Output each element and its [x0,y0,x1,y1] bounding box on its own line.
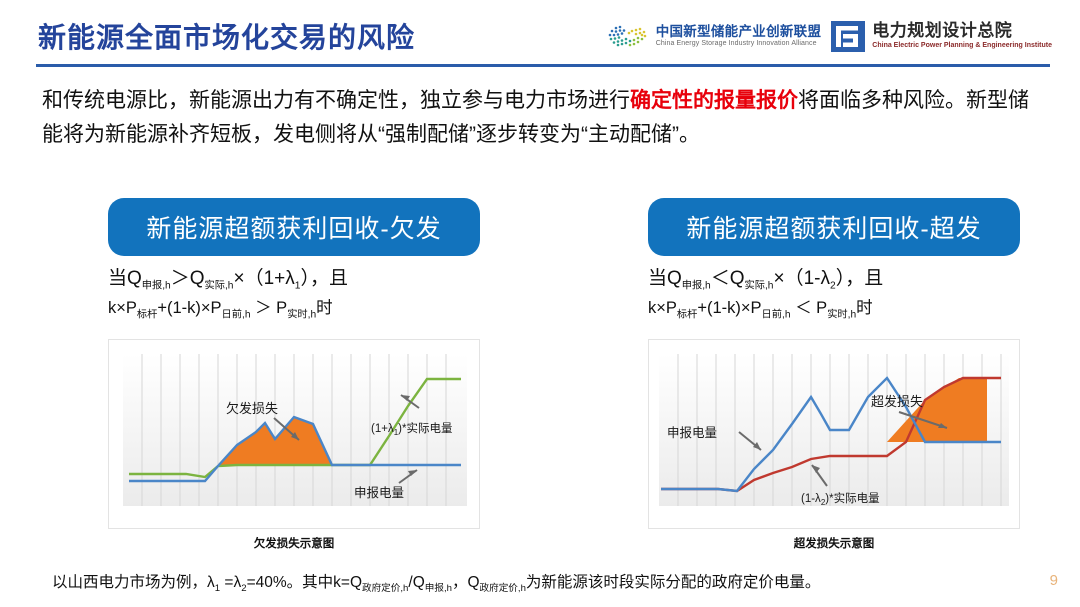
logo-bar: 中国新型储能产业创新联盟 China Energy Storage Indust… [607,14,1052,58]
pill-shortfall-title[interactable]: 新能源超额获利回收-欠发 [108,198,480,256]
g1-tail: ），且 [836,268,884,289]
lead-paragraph: 和传统电源比，新能源出力有不确定性，独立参与电力市场进行确定性的报量报价将面临多… [42,84,1042,152]
page-title: 新能源全面市场化交易的风险 [38,16,415,56]
footnote-pre: 以山西电力市场为例，λ [52,574,215,591]
pill-excess-title[interactable]: 新能源超额获利回收-超发 [648,198,1020,256]
g2-mid: +(1-k)×P [697,299,761,317]
f1-pre: 当Q [108,268,142,289]
pill-excess-label: 新能源超额获利回收-超发 [686,209,981,245]
footnote-mid1: =λ [220,574,241,591]
logo-energy-storage-alliance: 中国新型储能产业创新联盟 China Energy Storage Indust… [607,21,822,51]
g2-sub3: 实时,h [827,310,856,321]
g1-pre: 当Q [648,268,682,289]
chart-excess-svg: 申报电量 超发损失 (1-λ2)*实际电量 [649,340,1021,530]
f1-sub1: 申报,h [142,280,171,291]
title-divider [36,64,1050,67]
logo-epe-institute: 电力规划设计总院 China Electric Power Planning &… [831,21,1052,52]
f2-pre: k×P [108,299,137,317]
formula-excess-line2: k×P标杆+(1-k)×P日前,h ＜ P实时,h时 [648,297,1020,326]
lead-highlight: 确定性的报量报价 [630,89,798,112]
footnote-sub3: 政府定价,h [362,583,408,594]
g2-sub1: 标杆 [677,310,697,321]
formula-shortfall-line1: 当Q申报,h＞Q实际,h×（1+λ1），且 [108,268,480,297]
logo-alliance-cn: 中国新型储能产业创新联盟 [656,24,822,40]
annotation-excess-loss: 超发损失 [871,394,923,409]
column-excess: 新能源超额获利回收-超发 当Q申报,h＜Q实际,h×（1-λ2），且 k×P标杆… [648,198,1020,551]
f2-post: ＞ P [251,299,288,317]
blue-square-epe-icon [831,21,865,52]
footnote-mid4: ，Q [452,574,480,591]
chart-shortfall: 欠发损失 (1+λ1)*实际电量 申报电量 [108,339,480,529]
formula-shortfall: 当Q申报,h＞Q实际,h×（1+λ1），且 k×P标杆+(1-k)×P日前,h … [108,268,480,327]
f2-sub3: 实时,h [287,310,316,321]
g2-tail: 时 [856,299,873,317]
f1-tail: ），且 [300,268,348,289]
footnote-sub5: 政府定价,h [480,583,526,594]
f1-sub2: 实际,h [205,280,234,291]
g1-post: ×（1-λ [774,268,831,289]
g1-sub2: 实际,h [745,280,774,291]
caption-shortfall: 欠发损失示意图 [108,535,480,551]
annotation-blue-line-2: 申报电量 [667,425,717,440]
annotation-shortfall-loss: 欠发损失 [226,401,278,416]
lead-text-part1: 和传统电源比，新能源出力有不确定性，独立参与电力市场进行 [42,89,630,112]
chart-shortfall-svg: 欠发损失 (1+λ1)*实际电量 申报电量 [109,340,481,530]
g2-pre: k×P [648,299,677,317]
footnote-mid3: /Q [408,574,424,591]
g1-sub1: 申报,h [682,280,711,291]
footnote: 以山西电力市场为例，λ1 =λ2=40%。其中k=Q政府定价,h/Q申报,h，Q… [52,570,1042,594]
g2-sub2: 日前,h [762,310,791,321]
g1-mid: ＜Q [711,268,745,289]
logo-epe-en: China Electric Power Planning & Engineer… [872,41,1052,50]
formula-excess-line1: 当Q申报,h＜Q实际,h×（1-λ2），且 [648,268,1020,297]
f2-mid: +(1-k)×P [157,299,221,317]
f2-tail: 时 [316,299,333,317]
footnote-tail: 为新能源该时段实际分配的政府定价电量。 [526,574,821,591]
caption-excess: 超发损失示意图 [648,535,1020,551]
chart-excess: 申报电量 超发损失 (1-λ2)*实际电量 [648,339,1020,529]
formula-shortfall-line2: k×P标杆+(1-k)×P日前,h ＞ P实时,h时 [108,297,480,326]
logo-epe-cn: 电力规划设计总院 [872,22,1052,41]
f2-sub1: 标杆 [137,310,157,321]
annotation-red-line: (1-λ2)*实际电量 [801,491,880,507]
logo-alliance-en: China Energy Storage Industry Innovation… [656,40,822,48]
footnote-sub4: 申报,h [425,583,452,594]
f1-post: ×（1+λ [234,268,295,289]
f2-sub2: 日前,h [222,310,251,321]
dotted-infinity-icon [607,21,649,51]
slide-header: 新能源全面市场化交易的风险 [0,0,1080,70]
annotation-green-line: (1+λ1)*实际电量 [371,421,452,437]
formula-excess: 当Q申报,h＜Q实际,h×（1-λ2），且 k×P标杆+(1-k)×P日前,h … [648,268,1020,327]
f1-mid: ＞Q [171,268,205,289]
column-shortfall: 新能源超额获利回收-欠发 当Q申报,h＞Q实际,h×（1+λ1），且 k×P标杆… [108,198,480,551]
page-number: 9 [1050,572,1058,589]
g2-post: ＜ P [791,299,828,317]
annotation-blue-line: 申报电量 [354,485,404,500]
pill-shortfall-label: 新能源超额获利回收-欠发 [146,209,441,245]
footnote-mid2: =40%。其中k=Q [247,574,362,591]
